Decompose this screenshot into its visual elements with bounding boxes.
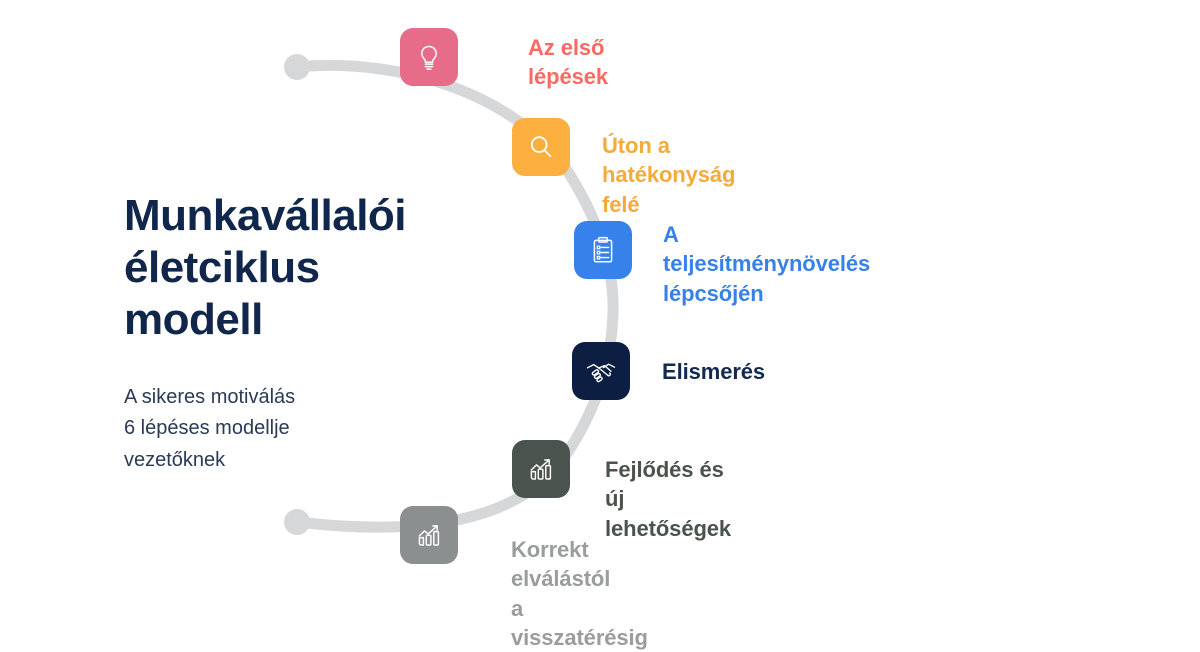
curve-endpoint-top-icon [284, 54, 310, 80]
magnifier-icon [525, 131, 557, 163]
step-2-tile[interactable] [512, 118, 570, 176]
step-5-label: Fejlődés és új lehetőségek [605, 455, 731, 543]
process-curve [0, 0, 1200, 628]
curve-endpoint-bottom-icon [284, 509, 310, 535]
handshake-icon [584, 354, 618, 388]
clipboard-checklist-icon [587, 234, 619, 266]
step-3-label: A teljesítménynövelés lépcsőjén [663, 220, 870, 308]
growth-chart-icon [525, 453, 557, 485]
lightbulb-icon [413, 41, 445, 73]
step-1-tile[interactable] [400, 28, 458, 86]
step-1-label: Az első lépések [528, 33, 608, 92]
step-2-label: Úton a hatékonyság felé [602, 131, 735, 219]
step-4-tile[interactable] [572, 342, 630, 400]
step-3-tile[interactable] [574, 221, 632, 279]
step-4-label: Elismerés [662, 357, 765, 386]
step-5-tile[interactable] [512, 440, 570, 498]
step-6-label: Korrekt elválástól a visszatérésig [511, 535, 648, 652]
growth-chart-icon [413, 519, 445, 551]
infographic-canvas: Munkavállalói életciklus modell A sikere… [0, 0, 1200, 628]
step-6-tile[interactable] [400, 506, 458, 564]
